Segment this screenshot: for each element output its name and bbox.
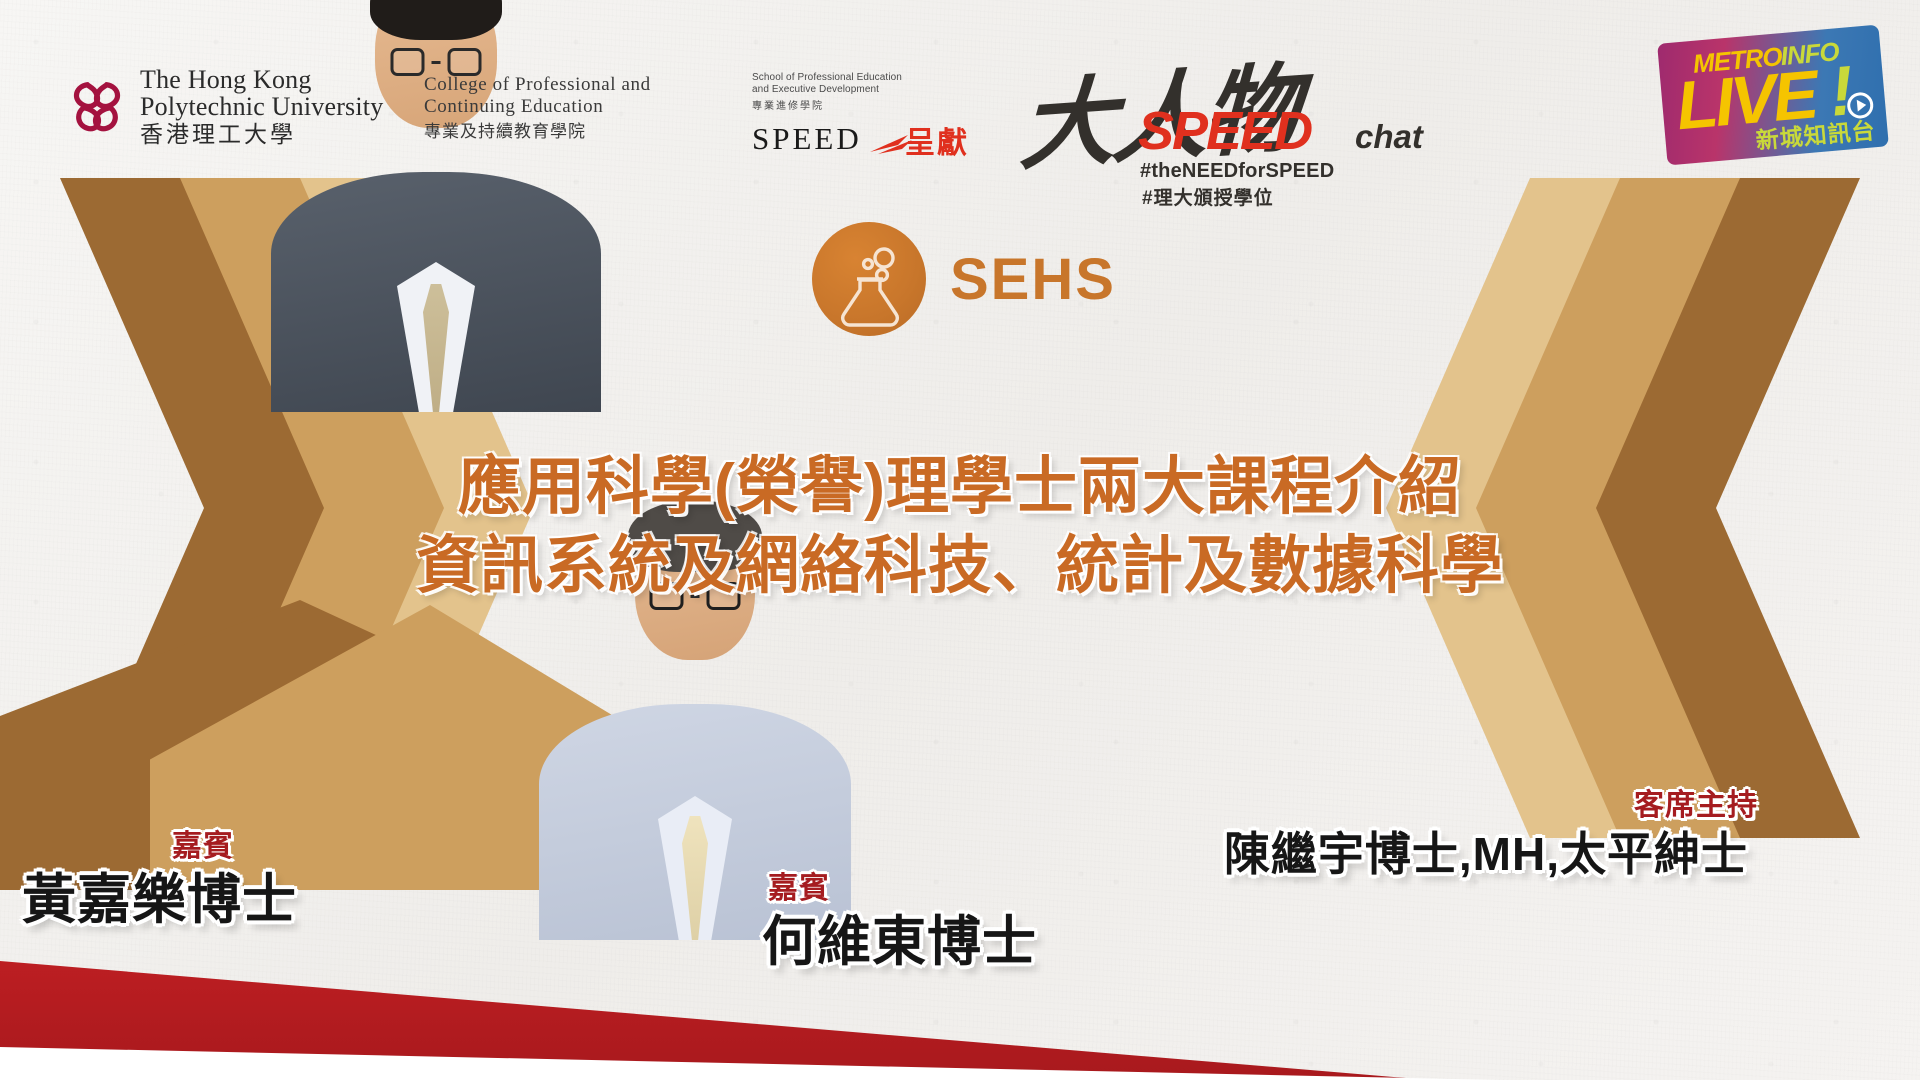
speed-logo: School of Professional Education and Exe… [752,72,914,157]
presenter-photo-3 [0,992,180,1080]
presenter-3-name: 陳繼宇博士,MH,太平紳士 [1224,828,1748,880]
brand-speed-text: SPEED [1138,100,1311,162]
speed-sub-line1: School of Professional Education [752,72,914,84]
hashtag-english: #theNEEDforSPEED [1140,160,1334,183]
polyu-logo: The Hong Kong Polytechnic University 香港理… [68,66,383,147]
presents-label: 呈獻 [905,118,969,162]
sehs-badge: SEHS [812,222,1116,336]
title-line-2: 資訊系統及網絡科技、統計及數據科學 [0,527,1920,606]
speed-chinese: 專業進修學院 [752,97,914,112]
cpce-chinese: 專業及持續教育學院 [424,122,651,142]
cpce-line1: College of Professional and [424,74,651,96]
polyu-line1: The Hong Kong [140,66,383,93]
presenter-1-nameplate: 嘉賓 黃嘉樂博士 [22,855,297,934]
polyu-line2: Polytechnic University [140,93,383,120]
presenter-2-nameplate: 嘉賓 何維東博士 [762,897,1037,976]
banner-canvas: The Hong Kong Polytechnic University 香港理… [0,0,1920,1080]
presenter-2-role: 嘉賓 [768,863,830,907]
sehs-circle [812,222,926,336]
hashtag-chinese: #理大頒授學位 [1142,183,1274,210]
presenter-2-name: 何維東博士 [762,912,1037,972]
presenter-1-name: 黃嘉樂博士 [22,870,297,930]
sehs-label: SEHS [950,246,1116,313]
presenter-1-role: 嘉賓 [172,821,234,865]
presenter-3-role: 客席主持 [1634,780,1758,824]
main-title: 應用科學(榮譽)理學士兩大課程介紹 資訊系統及網絡科技、統計及數據科學 [0,448,1920,607]
polyu-chinese: 香港理工大學 [140,123,383,147]
cpce-logo: College of Professional and Continuing E… [424,74,651,142]
metro-info-live-logo: METRO INFO LIVE ! 新城知訊台 [1657,25,1889,166]
header-bar: The Hong Kong Polytechnic University 香港理… [0,0,1920,180]
title-line-1: 應用科學(榮譽)理學士兩大課程介紹 [0,448,1920,527]
speed-wordmark: SPEED [752,121,862,157]
presenter-3-nameplate: 客席主持 陳繼宇博士,MH,太平紳士 [1224,818,1748,884]
polyu-knot-logo-icon [68,75,126,137]
speedchat-brand-logo: 大人物 SPEED chat #theNEEDforSPEED #理大頒授學位 [1010,42,1430,172]
cpce-line2: Continuing Education [424,96,651,118]
brand-chat-text: chat [1355,118,1423,156]
speed-sub-line2: and Executive Development [752,84,914,96]
flask-beaker-icon [812,222,926,336]
